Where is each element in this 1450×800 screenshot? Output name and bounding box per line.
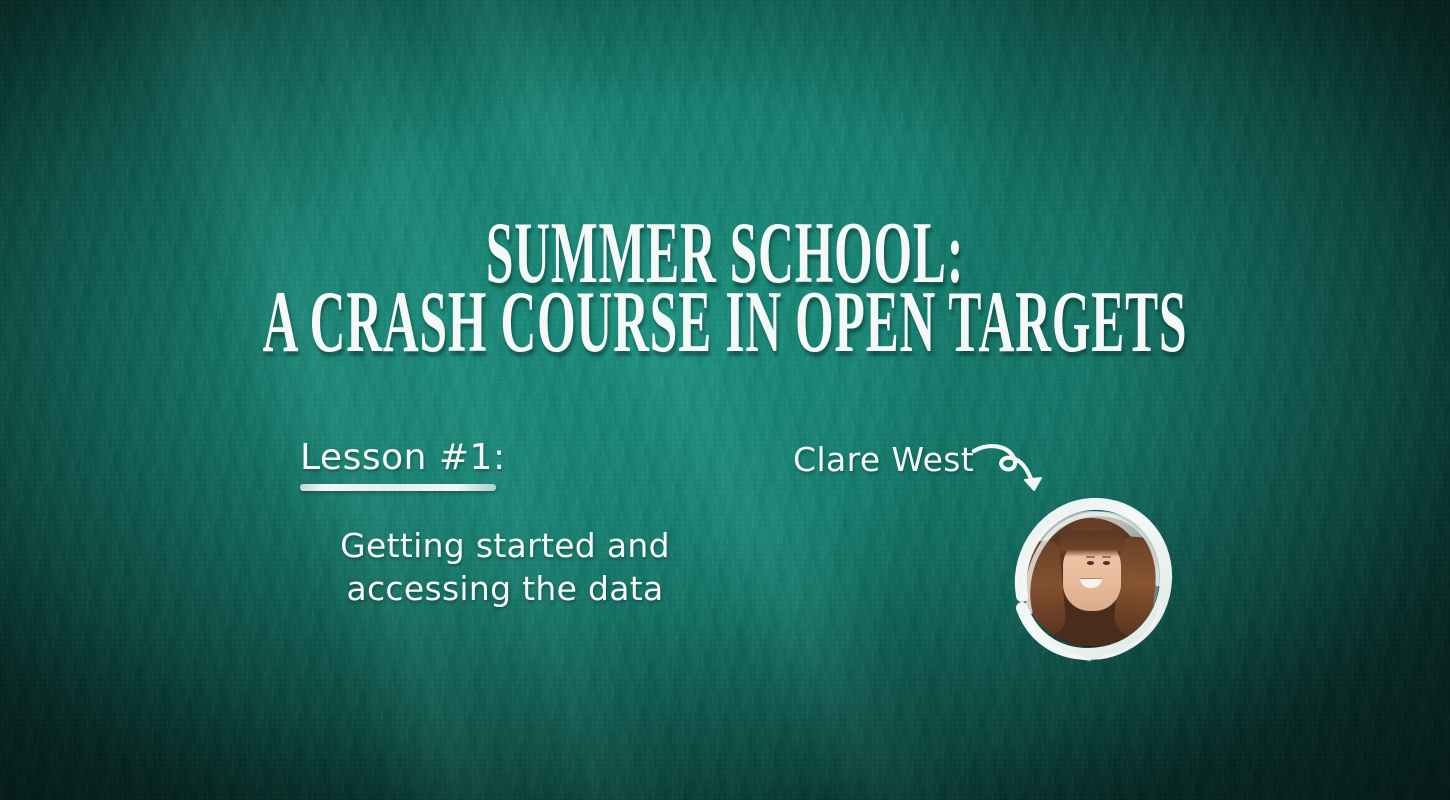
lesson-subtitle-line-1: Getting started and	[340, 526, 670, 565]
lesson-underline-stroke	[300, 484, 496, 491]
title-slide: Summer School: A Crash Course in Open Ta…	[0, 0, 1450, 800]
arrow-head	[1025, 478, 1041, 490]
lesson-subtitle: Getting started and accessing the data	[330, 525, 680, 611]
avatar	[1004, 492, 1178, 666]
lesson-subtitle-line-2: accessing the data	[346, 569, 663, 608]
lesson-label: Lesson #1:	[300, 440, 720, 476]
chalkboard-vignette	[0, 0, 1450, 800]
speaker-name: Clare West	[793, 443, 974, 476]
lesson-block: Lesson #1: Getting started and accessing…	[300, 440, 720, 611]
avatar-brush-ring	[1004, 492, 1178, 666]
